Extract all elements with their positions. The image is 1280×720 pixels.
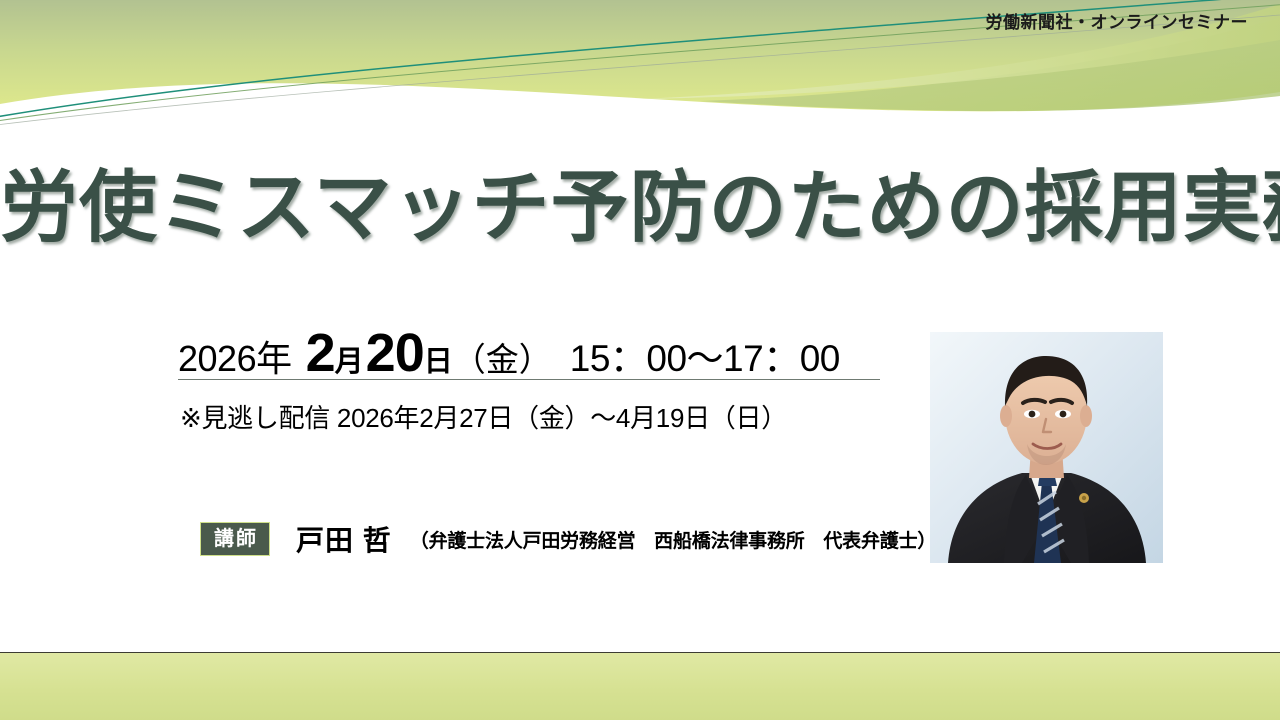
date-day-unit: 日 bbox=[424, 338, 453, 380]
date-weekday: （金） bbox=[453, 333, 552, 381]
date-month-number: 2 bbox=[306, 322, 335, 384]
speaker-row: 講師 戸田 哲 （弁護士法人戸田労務経営 西船橋法律事務所 代表弁護士） bbox=[200, 519, 936, 559]
date-month-unit: 月 bbox=[335, 338, 364, 380]
speaker-name: 戸田 哲 bbox=[296, 519, 392, 559]
footer-decoration-band bbox=[0, 652, 1280, 720]
header-caption: 労働新聞社・オンラインセミナー bbox=[986, 8, 1249, 33]
date-year: 2026年 bbox=[178, 330, 292, 382]
seminar-flyer-slide: 労働新聞社・オンラインセミナー 労使ミスマッチ予防のための採用実務 2026年 … bbox=[0, 0, 1280, 720]
seminar-time: 15：00〜17：00 bbox=[570, 328, 840, 382]
speaker-label-badge: 講師 bbox=[200, 522, 270, 556]
date-block: 2026年 2 月 20 日 （金） 15：00〜17：00 bbox=[178, 322, 883, 384]
seminar-date-line: 2026年 2 月 20 日 （金） 15：00〜17：00 bbox=[178, 322, 883, 384]
date-underline-rule bbox=[178, 379, 880, 380]
archive-availability-note: ※見逃し配信 2026年2月27日（金）〜4月19日（日） bbox=[180, 398, 787, 435]
speaker-portrait-photo bbox=[930, 332, 1163, 563]
date-day-number: 20 bbox=[366, 322, 424, 384]
page-title: 労使ミスマッチ予防のための採用実務 bbox=[0, 168, 1280, 250]
speaker-affiliation: （弁護士法人戸田労務経営 西船橋法律事務所 代表弁護士） bbox=[410, 526, 936, 553]
